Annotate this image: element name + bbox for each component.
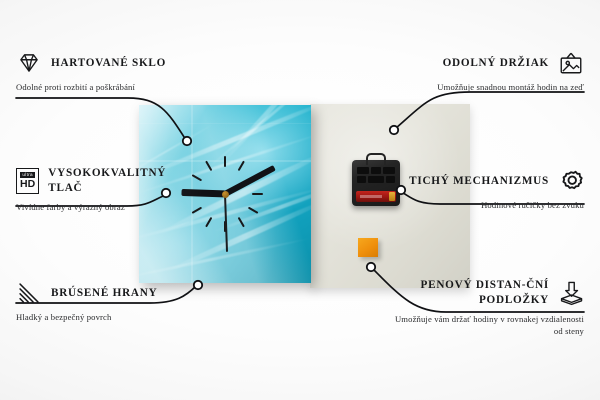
feature-description: Hladký a bezpečný povrch: [16, 311, 196, 323]
feature-polished-edges: BRÚSENÉ HRANY Hladký a bezpečný povrch: [16, 280, 196, 323]
feature-header: PENOVÝ DISTAN-ČNÍ PODLOŽKY: [388, 278, 584, 308]
feature-title: ODOLNÝ DRŽIAK: [443, 56, 549, 71]
feature-header: TICHÝ MECHANIZMUS: [394, 168, 584, 194]
hatch-lines-icon: [16, 280, 42, 306]
feature-silent-mechanism: TICHÝ MECHANIZMUS Hodinové ručičky bez z…: [394, 168, 584, 211]
diamond-icon: [16, 50, 42, 76]
ultra-hd-icon: ultra HD: [16, 168, 39, 194]
foam-pad-arrow-icon: [558, 280, 584, 306]
feature-title: HARTOVANÉ SKLO: [51, 56, 166, 71]
feature-foam-spacers: PENOVÝ DISTAN-ČNÍ PODLOŽKY Umožňuje vám …: [388, 278, 584, 337]
feature-high-quality-print: ultra HD VYSOKOKVALITNÝ TLAČ Vivídne far…: [16, 166, 186, 213]
connector-line-holder: [396, 92, 584, 128]
feature-title: VYSOKOKVALITNÝ TLAČ: [48, 166, 186, 196]
feature-header: ODOLNÝ DRŽIAK: [402, 50, 584, 76]
feature-header: HARTOVANÉ SKLO: [16, 50, 186, 76]
feature-title: TICHÝ MECHANIZMUS: [409, 174, 549, 189]
connector-marker-foam: [367, 263, 375, 271]
infographic-canvas: HARTOVANÉ SKLO Odolné proti rozbití a po…: [0, 0, 600, 400]
feature-description: Umožňuje vám držať hodiny v rovnakej vzd…: [388, 313, 584, 337]
ultra-hd-icon-hd: HD: [20, 179, 35, 190]
feature-durable-holder: ODOLNÝ DRŽIAK Umožňuje snadnou montáž ho…: [402, 50, 584, 93]
feature-description: Odolné proti rozbití a poškrábání: [16, 81, 186, 93]
gear-icon: [558, 168, 584, 194]
feature-title: PENOVÝ DISTAN-ČNÍ PODLOŽKY: [388, 278, 549, 308]
feature-description: Hodinové ručičky bez zvuku: [394, 199, 584, 211]
feature-description: Umožňuje snadnou montáž hodin na zeď: [402, 81, 584, 93]
feature-title: BRÚSENÉ HRANY: [51, 286, 157, 301]
feature-header: ultra HD VYSOKOKVALITNÝ TLAČ: [16, 166, 186, 196]
connector-marker-holder: [390, 126, 398, 134]
connector-marker-tempered-glass: [183, 137, 191, 145]
picture-hanger-icon: [558, 50, 584, 76]
feature-header: BRÚSENÉ HRANY: [16, 280, 196, 306]
feature-tempered-glass: HARTOVANÉ SKLO Odolné proti rozbití a po…: [16, 50, 186, 93]
feature-description: Vivídne farby a výrazný obraz: [16, 201, 186, 213]
connector-line-tempered-glass: [16, 98, 186, 140]
